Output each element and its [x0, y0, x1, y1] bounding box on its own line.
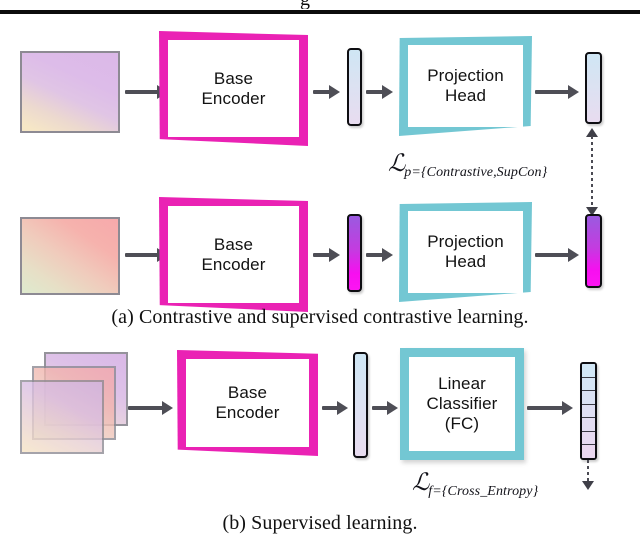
base-encoder-2-line1: Base	[168, 235, 299, 255]
input-image-stack-front	[20, 380, 104, 454]
loss-label-contrastive: ℒp={Contrastive,SupCon}	[388, 149, 547, 181]
projection-head-2: Projection Head	[399, 202, 532, 302]
arrow-stack-to-encoder	[128, 401, 174, 415]
header-divider	[0, 10, 640, 14]
cut-off-glyph: g	[300, 0, 310, 9]
embedding-vector-1	[585, 52, 602, 124]
logits-segment	[582, 405, 595, 419]
arrow-head-to-embedding-2	[535, 248, 581, 262]
cross-entropy-arrow	[581, 460, 595, 492]
logits-segment	[582, 391, 595, 405]
linear-classifier: Linear Classifier (FC)	[400, 348, 524, 460]
contrastive-loss-double-arrow	[585, 128, 599, 216]
panel-b: Base Encoder Linear Classifier (FC)	[0, 340, 640, 510]
input-image-stack	[18, 350, 138, 460]
input-image-1	[20, 51, 120, 133]
embedding-vector-2	[585, 214, 602, 288]
logits-vector	[580, 362, 597, 460]
input-image-2	[20, 217, 120, 295]
caption-a: (a) Contrastive and supervised contrasti…	[0, 306, 640, 329]
projection-head-1: Projection Head	[399, 36, 532, 136]
base-encoder-1-line2: Encoder	[168, 89, 299, 109]
base-encoder-2: Base Encoder	[159, 197, 308, 312]
logits-segment	[582, 378, 595, 392]
arrow-vector-to-head-2	[366, 248, 396, 262]
page-header-clip: g	[0, 0, 640, 9]
arrow-encoder-to-vector-1	[313, 85, 343, 99]
base-encoder-3: Base Encoder	[177, 350, 318, 456]
logits-segment	[582, 364, 595, 378]
loss-subscript-p: p={Contrastive,SupCon}	[404, 165, 547, 180]
arrow-vector-to-classifier	[372, 401, 400, 415]
loss-symbol-f: ℒ	[412, 468, 428, 496]
linear-classifier-line1: Linear	[409, 374, 515, 394]
loss-label-cross-entropy: ℒf={Cross_Entropy}	[412, 468, 538, 500]
figure-canvas: g Base Encoder	[0, 0, 640, 544]
linear-classifier-line2: Classifier	[409, 394, 515, 414]
caption-b: (b) Supervised learning.	[0, 512, 640, 535]
projection-head-2-line2: Head	[408, 252, 523, 272]
loss-symbol-p: ℒ	[388, 149, 404, 177]
logits-segment	[582, 432, 595, 446]
arrow-vector-to-head-1	[366, 85, 396, 99]
projection-head-1-line2: Head	[408, 86, 523, 106]
arrow-encoder-to-vector-3	[322, 401, 350, 415]
panel-a: Base Encoder Projection Head	[0, 16, 640, 336]
representation-vector-3	[353, 352, 368, 458]
arrow-encoder-to-vector-2	[313, 248, 343, 262]
projection-head-1-line1: Projection	[408, 66, 523, 86]
logits-segment	[582, 445, 595, 458]
base-encoder-3-line1: Base	[186, 383, 309, 403]
base-encoder-1: Base Encoder	[159, 31, 308, 146]
projection-head-2-line1: Projection	[408, 232, 523, 252]
arrow-head-to-embedding-1	[535, 85, 581, 99]
representation-vector-2	[347, 214, 362, 292]
base-encoder-1-line1: Base	[168, 69, 299, 89]
linear-classifier-line3: (FC)	[409, 414, 515, 434]
arrow-classifier-to-logits	[527, 401, 575, 415]
loss-subscript-f: f={Cross_Entropy}	[428, 484, 538, 499]
base-encoder-2-line2: Encoder	[168, 255, 299, 275]
base-encoder-3-line2: Encoder	[186, 403, 309, 423]
logits-segment	[582, 418, 595, 432]
representation-vector-1	[347, 48, 362, 126]
